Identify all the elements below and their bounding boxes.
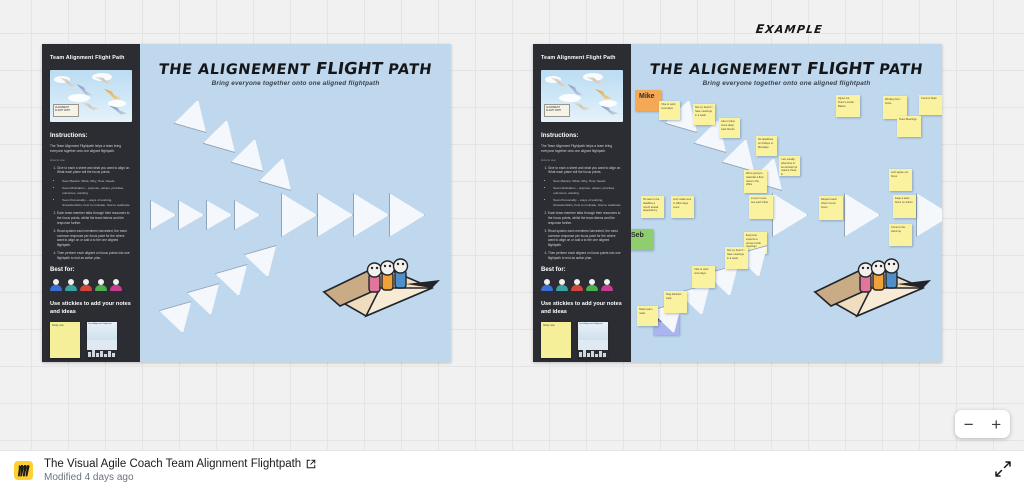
sticky-note[interactable]: Let's make sure in office days count: [671, 196, 694, 218]
sticky-note[interactable]: Not my best if I have meetings in a week: [693, 104, 715, 125]
sticky-note[interactable]: I am usually what time to set should not…: [779, 156, 800, 176]
arrow-triangle[interactable]: [259, 153, 300, 191]
avatar-group: [50, 278, 132, 291]
sticky-note-card[interactable]: Sticky note: [50, 322, 80, 358]
avatar: [571, 278, 583, 291]
step-item: Each team member talks through their res…: [548, 211, 623, 225]
miro-logo-icon: [14, 461, 33, 480]
instruction-steps-cont: Each team member talks through their res…: [50, 211, 132, 260]
bottom-bar-text: The Visual Agile Coach Team Alignment Fl…: [44, 458, 316, 483]
best-for-heading: Best for:: [541, 267, 623, 273]
board-title-accent: FLIGHT: [315, 59, 384, 78]
arrow-triangle[interactable]: [317, 193, 353, 237]
sidebar-cards: Sticky note Team Alignment Flightpath: [50, 322, 132, 358]
paper-plane-illustration: [320, 248, 442, 322]
arrow-triangle[interactable]: [178, 200, 204, 230]
illustration-sign: ALIGNMENT FLIGHT PATH: [53, 104, 79, 117]
external-link-icon[interactable]: [306, 459, 316, 469]
example-label: Example: [755, 18, 825, 38]
sticky-note[interactable]: Share team notes: [637, 306, 658, 326]
frame-template[interactable]: Team Alignment Flight Path ALIGNMENT FLI…: [42, 44, 451, 362]
sticky-note[interactable]: Team Meetings: [897, 116, 921, 137]
stickies-heading: Use stickies to add your notes and ideas: [541, 300, 623, 316]
modified-timestamp: Modified 4 days ago: [44, 472, 316, 483]
step-item: Read spoken each members harvested, the …: [57, 229, 132, 248]
bullet-item: Team Personality – ways of working, char…: [553, 198, 623, 207]
frame-sidebar: Team Alignment Flight Path ALIGNMENT FLI…: [42, 44, 140, 362]
arrow-triangle[interactable]: [244, 245, 285, 282]
board-title-part2: PATH: [872, 62, 924, 78]
bottom-bar: The Visual Agile Coach Team Alignment Fl…: [0, 450, 1024, 490]
paper-plane-illustration: [811, 248, 933, 322]
sticky-note[interactable]: We're going to calendar a flow meet in t…: [744, 170, 767, 193]
sticky-note[interactable]: A sync to see see each other: [749, 195, 773, 219]
instructions-heading: Instructions:: [50, 132, 132, 139]
image-card-caption: Team Alignment Flightpath: [87, 322, 117, 340]
sticky-name[interactable]: Mike: [635, 90, 661, 111]
sticky-note[interactable]: I like to work most days: [692, 266, 715, 288]
step-item: Then perform each aligned on focus point…: [548, 251, 623, 261]
how-to-use-label: How to use:: [50, 158, 132, 162]
arrow-triangle[interactable]: [772, 193, 808, 237]
board-title-part1: THE ALIGNEMENT: [158, 62, 317, 78]
expand-icon[interactable]: [994, 460, 1012, 478]
bullet-item: Team Basics: What, Why, How, Needs: [553, 179, 623, 184]
bullet-item: Team Basics: What, Why, How, Needs: [62, 179, 132, 184]
avatar-group: [541, 278, 623, 291]
bullet-item: Team Personality – ways of working, char…: [62, 198, 132, 207]
frame-example[interactable]: Team Alignment Flight Path ALIGNMENT FLI…: [533, 44, 942, 362]
arrow-triangle[interactable]: [203, 115, 244, 153]
step-item: Then perform each aligned on focus point…: [57, 251, 132, 261]
sticky-note[interactable]: Let's agree our focus: [889, 169, 912, 191]
sticky-note[interactable]: Like to have some deep work blocks: [719, 118, 740, 138]
instruction-bullets: Team Basics: What, Why, How, Needs Team …: [545, 179, 623, 207]
sticky-note[interactable]: Not my best if I have meetings in a week: [725, 247, 748, 269]
avatar: [586, 278, 598, 291]
board-title-part2: PATH: [381, 62, 433, 78]
sticky-note[interactable]: Keep a team focus on admin: [893, 195, 916, 218]
bullet-item: Team Motivation – purpose, values, prior…: [62, 186, 132, 195]
image-card[interactable]: Team Alignment Flightpath: [87, 322, 117, 358]
step-item: Give to each a sheet and what you want t…: [548, 166, 623, 176]
arrow-triangle[interactable]: [206, 200, 232, 230]
sidebar-illustration: ALIGNMENT FLIGHT PATH: [50, 70, 132, 122]
step-item: Each team member talks through their res…: [57, 211, 132, 225]
instructions-intro: The Team Alignment Flightpath helps a te…: [50, 144, 132, 154]
sticky-name[interactable]: Seb: [631, 229, 653, 250]
step-item: Give to each a sheet and what you want t…: [57, 166, 132, 176]
instruction-bullets: Team Basics: What, Why, How, Needs Team …: [54, 179, 132, 207]
sticky-note[interactable]: No deadlines on Fridays or Mondays: [756, 136, 777, 156]
instruction-steps-cont: Each team member talks through their res…: [541, 211, 623, 260]
sidebar-cards: Sticky note Team Alignment Flightpath: [541, 322, 623, 358]
avatar: [556, 278, 568, 291]
sticky-note[interactable]: Agree our Team's social Basics: [836, 95, 860, 117]
arrow-triangle[interactable]: [150, 200, 176, 230]
board-title: THE ALIGNEMENT FLIGHT PATH: [140, 59, 451, 78]
avatar: [95, 278, 107, 291]
avatar: [80, 278, 92, 291]
arrow-triangle[interactable]: [215, 264, 256, 301]
avatar: [541, 278, 553, 291]
arrow-triangle[interactable]: [353, 193, 389, 237]
board-title-row: The Visual Agile Coach Team Alignment Fl…: [44, 458, 316, 470]
sidebar-title: Team Alignment Flight Path: [50, 55, 132, 62]
board-canvas[interactable]: Example Team Alignment Flight Path ALIGN…: [0, 0, 1024, 450]
board-name: The Visual Agile Coach Team Alignment Fl…: [44, 458, 301, 470]
avatar: [50, 278, 62, 291]
image-card-caption: Team Alignment Flightpath: [578, 322, 608, 340]
arrow-triangle[interactable]: [844, 193, 880, 237]
step-item: Read spoken each members harvested, the …: [548, 229, 623, 248]
avatar: [65, 278, 77, 291]
arrow-triangle[interactable]: [187, 283, 228, 320]
image-card[interactable]: Team Alignment Flightpath: [578, 322, 608, 358]
sticky-note[interactable]: No team to be deadline a month ahead dep…: [641, 196, 664, 218]
sidebar-illustration: ALIGNMENT FLIGHT PATH: [541, 70, 623, 122]
zoom-controls[interactable]: − +: [955, 410, 1010, 438]
instruction-steps: Give to each a sheet and what you want t…: [541, 166, 623, 176]
arrow-triangle[interactable]: [281, 193, 317, 237]
avatar: [110, 278, 122, 291]
zoom-in-button[interactable]: +: [991, 416, 1001, 433]
sticky-note-card[interactable]: Sticky note: [541, 322, 571, 358]
avatar: [601, 278, 613, 291]
zoom-out-button[interactable]: −: [964, 416, 974, 433]
sticky-note[interactable]: Comms Team: [919, 95, 942, 115]
arrow-triangle[interactable]: [174, 95, 215, 133]
board-title-part1: THE ALIGNEMENT: [649, 62, 808, 78]
sticky-note[interactable]: Flag blockers early: [664, 291, 687, 313]
arrow-triangle[interactable]: [231, 134, 272, 172]
instructions-heading: Instructions:: [541, 132, 623, 139]
arrow-triangle[interactable]: [159, 301, 200, 338]
board-subtitle: Bring everyone together onto one aligned…: [140, 80, 451, 87]
miro-board-preview: Example Team Alignment Flight Path ALIGN…: [0, 0, 1024, 490]
arrow-triangle[interactable]: [389, 193, 425, 237]
best-for-heading: Best for:: [50, 267, 132, 273]
stickies-heading: Use stickies to add your notes and ideas: [50, 300, 132, 316]
arrow-triangle[interactable]: [916, 193, 942, 237]
sidebar-title: Team Alignment Flight Path: [541, 55, 623, 62]
bullet-item: Team Motivation – purpose, values, prior…: [553, 186, 623, 195]
sticky-note[interactable]: Come to the stand up: [889, 224, 912, 246]
instruction-steps: Give to each a sheet and what you want t…: [50, 166, 132, 176]
board-subtitle: Bring everyone together onto one aligned…: [631, 80, 942, 87]
sticky-note[interactable]: I like to work most days: [659, 101, 680, 120]
how-to-use-label: How to use:: [541, 158, 623, 162]
board-title-accent: FLIGHT: [806, 59, 875, 78]
frame-board[interactable]: THE ALIGNEMENT FLIGHT PATH Bring everyon…: [140, 44, 451, 362]
illustration-sign: ALIGNMENT FLIGHT PATH: [544, 104, 570, 117]
arrow-triangle[interactable]: [234, 200, 260, 230]
instructions-intro: The Team Alignment Flightpath helps a te…: [541, 144, 623, 154]
frame-sidebar: Team Alignment Flight Path ALIGNMENT FLI…: [533, 44, 631, 362]
board-title: THE ALIGNEMENT FLIGHT PATH: [631, 59, 942, 78]
frame-board[interactable]: THE ALIGNEMENT FLIGHT PATH Bring everyon…: [631, 44, 942, 362]
sticky-note[interactable]: Respect each other's focus hours: [819, 196, 843, 220]
